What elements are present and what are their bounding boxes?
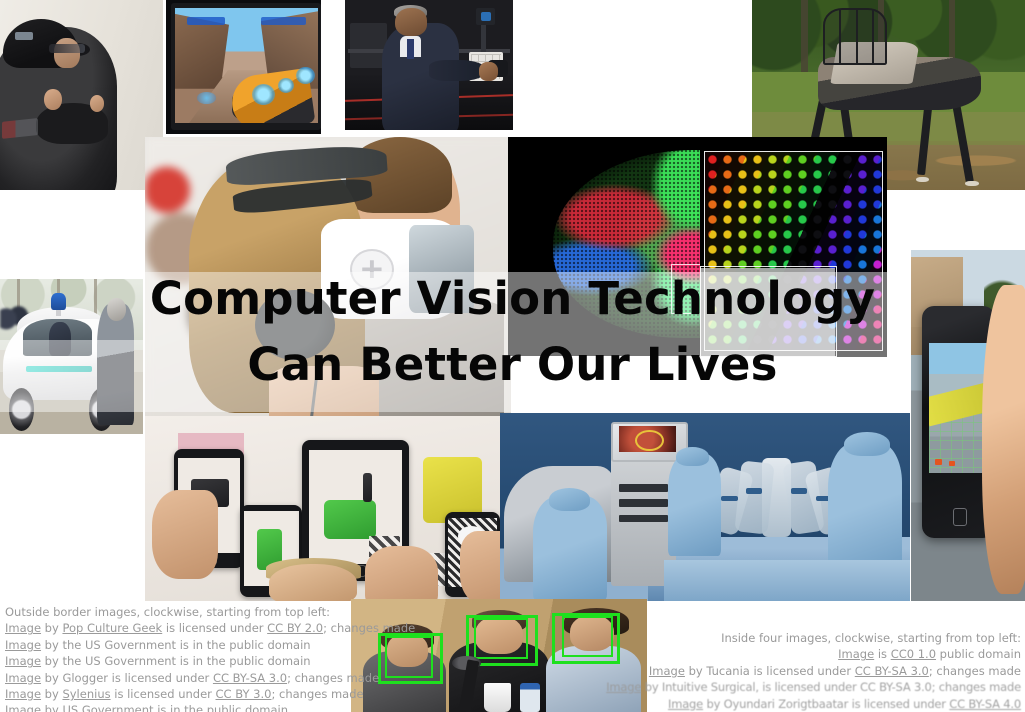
photo-man-facing-wall-arc	[0, 0, 163, 190]
poster-canvas: Computer Vision Technology Can Better Ou…	[0, 0, 1025, 712]
caption-right-line: Image by Intuitive Surgical, is licensed…	[606, 679, 1021, 695]
face-box-center-inner	[474, 618, 528, 659]
caption-right-line: Image is CC0 1.0 public domain	[606, 646, 1021, 662]
title-band-upper	[145, 272, 887, 340]
caption-right-line: Image by Tucania is licensed under CC BY…	[606, 663, 1021, 679]
photo-president-obama-vr-demo	[345, 0, 513, 130]
caption-left-line: Image by the US Government is in the pub…	[5, 637, 415, 653]
photo-robotic-surgery-theatre	[500, 413, 910, 601]
photo-augmented-reality-furniture	[145, 416, 511, 601]
caption-right-line: Image by Oyundari Zorigtbaatar is licens…	[606, 696, 1021, 712]
caption-left-line: Image by Sylenius is licensed under CC B…	[5, 686, 415, 702]
photo-vr-game-on-large-screen	[166, 0, 321, 134]
title-band-lower	[0, 340, 910, 412]
caption-outside-images: Outside border images, clockwise, starti…	[5, 604, 415, 712]
caption-left-heading: Outside border images, clockwise, starti…	[5, 604, 415, 620]
caption-left-line: Image by Glogger is licensed under CC BY…	[5, 670, 415, 686]
caption-left-line: Image by US Government is in the public …	[5, 702, 415, 712]
photo-ar-navigation-phone	[911, 250, 1025, 601]
caption-inside-images: Inside four images, clockwise, starting …	[606, 630, 1021, 712]
caption-left-line: Image by the US Government is in the pub…	[5, 653, 415, 669]
caption-left-line: Image by Pop Culture Geek is licensed un…	[5, 620, 415, 636]
caption-right-heading: Inside four images, clockwise, starting …	[606, 630, 1021, 646]
